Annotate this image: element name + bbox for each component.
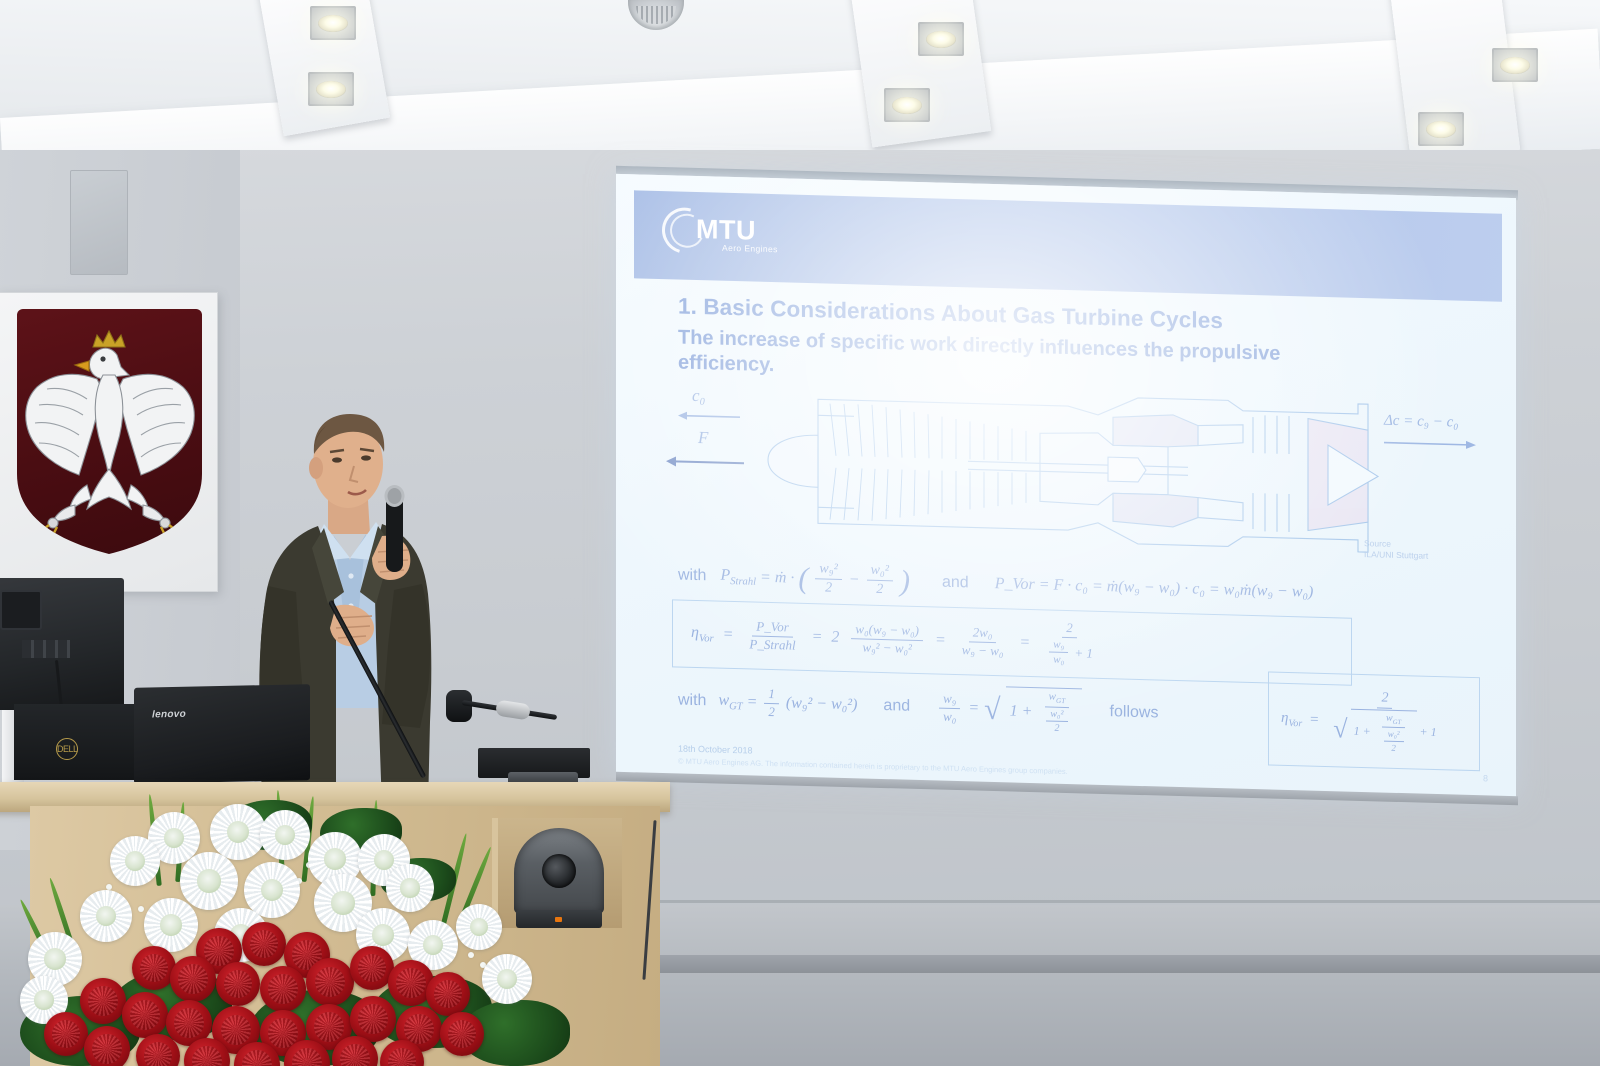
white-eagle-icon xyxy=(17,309,202,554)
eq2-frac2: w₀(w₉ − w₀) w₉² − w₀² xyxy=(851,622,923,657)
gerbera-center xyxy=(372,924,394,946)
eq4-inner-num: wGT xyxy=(1382,712,1405,728)
gerbera-center xyxy=(125,851,145,871)
floor-skirting xyxy=(660,955,1600,973)
red-carnation xyxy=(216,962,260,1006)
eq4-content: ηVor = 2 √ 1 + wGT xyxy=(1269,672,1479,770)
laptop[interactable]: lenovo xyxy=(134,684,310,784)
slide-copyright: © MTU Aero Engines AG. The information c… xyxy=(678,757,1068,777)
eq1-with-label: with xyxy=(678,566,706,585)
ceiling-spotlight xyxy=(310,6,356,40)
red-carnation xyxy=(306,958,354,1006)
eq4-sqrt-icon: √ xyxy=(1333,721,1347,740)
white-gerbera xyxy=(144,898,198,952)
label-thrust: F xyxy=(698,428,708,448)
red-carnation xyxy=(260,966,306,1012)
wall-speaker xyxy=(70,170,128,275)
eq3-body: (w₉² − w₀²) xyxy=(786,695,858,715)
gerbera-center xyxy=(44,948,66,970)
arrow-inlet-icon xyxy=(676,409,742,423)
eq1-paren-open: ( xyxy=(798,566,808,590)
eq3-sqrt-body: 1 + wGT w₀² 2 xyxy=(1006,686,1082,735)
eq2-frac3: 2w₀ w₉ − w₀ xyxy=(958,625,1008,659)
coat-of-arms-shield xyxy=(17,309,202,554)
eq1-mdot: ṁ xyxy=(775,569,787,587)
eq1-jet-power: PStrahl = ṁ · ( w₉² 2 − w₀² 2 ) xyxy=(720,559,910,599)
eq3-wgt: wGT = 1 2 (w₉² − w₀²) xyxy=(718,685,857,722)
projected-slide: MTU Aero Engines 1. Basic Considerations… xyxy=(616,174,1516,798)
white-gerbera xyxy=(386,864,434,912)
boxed-efficiency-equation: ηVor = P_Vor P_Strahl = 2 w₀(w₉ − w₀) w₉… xyxy=(672,599,1352,685)
eq1-equals: = xyxy=(760,568,771,586)
eq2-eq4: = xyxy=(1019,634,1030,652)
red-carnation xyxy=(170,956,216,1002)
eq1-dot: · xyxy=(790,569,794,587)
eq2-eq1: = xyxy=(723,626,734,644)
vesa-mount xyxy=(0,590,42,630)
white-gerbera xyxy=(180,852,238,910)
monitor-ports xyxy=(22,640,70,658)
mtu-logo: MTU Aero Engines xyxy=(662,203,782,260)
eq4-equals: = xyxy=(1309,711,1319,728)
projection-screen: MTU Aero Engines 1. Basic Considerations… xyxy=(616,174,1516,798)
eq3-equals: = xyxy=(747,694,758,712)
eq3-wgt-sym: wGT xyxy=(718,692,742,713)
gerbera-center xyxy=(497,969,517,989)
slide-date: 18th October 2018 xyxy=(678,744,753,756)
gerbera-center xyxy=(331,891,354,914)
white-gerbera xyxy=(110,836,160,886)
white-gerbera xyxy=(80,890,132,942)
ceiling-spotlight xyxy=(1492,48,1538,82)
lenovo-logo: lenovo xyxy=(152,709,186,721)
eq3-sqrt-frac: wGT w₀² 2 xyxy=(1039,690,1074,734)
eq3-sqrt-frac-num: wGT xyxy=(1045,690,1070,707)
eq4-eta: ηVor xyxy=(1281,709,1302,729)
eq1-p-strahl: PStrahl xyxy=(720,566,756,587)
eq4-inner-den: w₀² 2 xyxy=(1377,728,1411,754)
eq1-and-label: and xyxy=(942,573,969,592)
ceiling-spotlight xyxy=(884,88,930,122)
red-carnation xyxy=(242,922,286,966)
presentation-room-photo: MTU Aero Engines 1. Basic Considerations… xyxy=(0,0,1600,1066)
ceiling-spotlight xyxy=(308,72,354,106)
arrow-thrust-icon xyxy=(664,455,746,469)
eq1-minus: − xyxy=(849,571,860,589)
eq3-follows-label: follows xyxy=(1110,703,1159,722)
eq3-ratio-frac: w₉ w₀ xyxy=(939,691,960,724)
eq2-frac1: P_Vor P_Strahl xyxy=(745,619,799,653)
gerbera-center xyxy=(34,990,53,1009)
eq1-frac-left: w₉² 2 xyxy=(815,561,841,597)
eq1-frac-right: w₀² 2 xyxy=(867,563,893,599)
red-carnation xyxy=(80,978,126,1024)
turbofan-diagram: c₀ F Δc = c₉ − c₀ xyxy=(668,371,1480,565)
eq3-ratio: w₉ w₀ = √ 1 + wGT w₀² xyxy=(936,684,1081,734)
mtu-wordmark: MTU xyxy=(696,214,756,247)
white-gerbera xyxy=(260,810,310,860)
eq1-propulsive-power: P_Vor = F · c₀ = ṁ(w₉ − w₀) · c₀ = w₀ṁ(w… xyxy=(995,575,1314,602)
eq2-frac4: 2 w₉ w₀ + 1 xyxy=(1042,620,1097,668)
eq4-inner-inner: w₀² 2 xyxy=(1384,729,1404,753)
smoke-detector-grill xyxy=(636,6,676,24)
gerbera-center xyxy=(197,869,220,892)
label-delta-c: Δc = c₉ − c₀ xyxy=(1384,413,1458,432)
eq2-eta: ηVor xyxy=(691,624,714,645)
dell-logo: DELL xyxy=(56,738,78,760)
turbofan-cross-section-icon xyxy=(668,371,1480,565)
external-monitor-rear xyxy=(0,578,124,710)
red-carnation xyxy=(122,992,168,1038)
eq3-sqrt-inner: w₀² 2 xyxy=(1046,708,1067,735)
eq4-sqrt-body: 1 + wGT w₀² 2 xyxy=(1351,709,1417,754)
mtu-tagline: Aero Engines xyxy=(722,243,778,255)
boxed-final-equation: ηVor = 2 √ 1 + wGT xyxy=(1268,671,1480,771)
babys-breath xyxy=(468,952,474,958)
red-carnation xyxy=(84,1026,130,1066)
slide-page-number: 8 xyxy=(1483,773,1488,783)
eq4-den: √ 1 + wGT w₀² xyxy=(1329,707,1440,754)
ceiling-spotlight xyxy=(1418,112,1464,146)
figure-source: Source ILA/UNI Stuttgart xyxy=(1364,538,1494,564)
label-inlet-velocity: c₀ xyxy=(692,386,705,406)
eq2-frac4-den: w₉ w₀ + 1 xyxy=(1042,637,1097,668)
white-gerbera xyxy=(482,954,532,1004)
gerbera-center xyxy=(160,914,182,936)
babys-breath xyxy=(138,906,144,912)
eq3-sqrt-icon: √ xyxy=(984,699,1000,720)
eq3-ratio-eq: = xyxy=(968,700,979,718)
red-carnation xyxy=(440,1012,484,1056)
gerbera-center xyxy=(400,878,419,897)
arrow-delta-c-icon xyxy=(1382,437,1478,452)
eq2-eq2: = xyxy=(812,628,823,646)
eq1-paren-close: ) xyxy=(900,569,910,593)
ceiling-spotlight xyxy=(918,22,964,56)
coat-of-arms-plaque xyxy=(0,292,218,592)
red-carnation xyxy=(44,1012,88,1056)
eq3-and-label: and xyxy=(883,697,910,716)
gerbera-center xyxy=(324,848,346,870)
white-gerbera xyxy=(210,804,266,860)
eq3-half: 1 2 xyxy=(764,687,779,720)
eq3-with-label: with xyxy=(678,692,706,711)
eq2-eq3: = xyxy=(935,631,946,649)
eq4-inner-frac: wGT w₀² 2 xyxy=(1377,712,1411,753)
eq4-frac: 2 √ 1 + wGT xyxy=(1329,689,1440,754)
eq2-content: ηVor = P_Vor P_Strahl = 2 w₀(w₉ − w₀) w₉… xyxy=(673,600,1351,684)
wall-seam xyxy=(660,900,1600,903)
gerbera-center xyxy=(423,935,443,955)
red-carnation xyxy=(132,946,176,990)
red-carnation xyxy=(426,972,470,1016)
white-gerbera xyxy=(456,904,502,950)
eq3-sqrt-frac-den: w₀² 2 xyxy=(1039,707,1074,735)
eq2-coef: 2 xyxy=(831,629,839,647)
gerbera-center xyxy=(275,825,295,845)
flower-arrangement xyxy=(20,800,580,1066)
eq4-tail: + 1 xyxy=(1420,725,1437,739)
eq2-inner-frac: w₉ w₀ xyxy=(1049,638,1068,667)
